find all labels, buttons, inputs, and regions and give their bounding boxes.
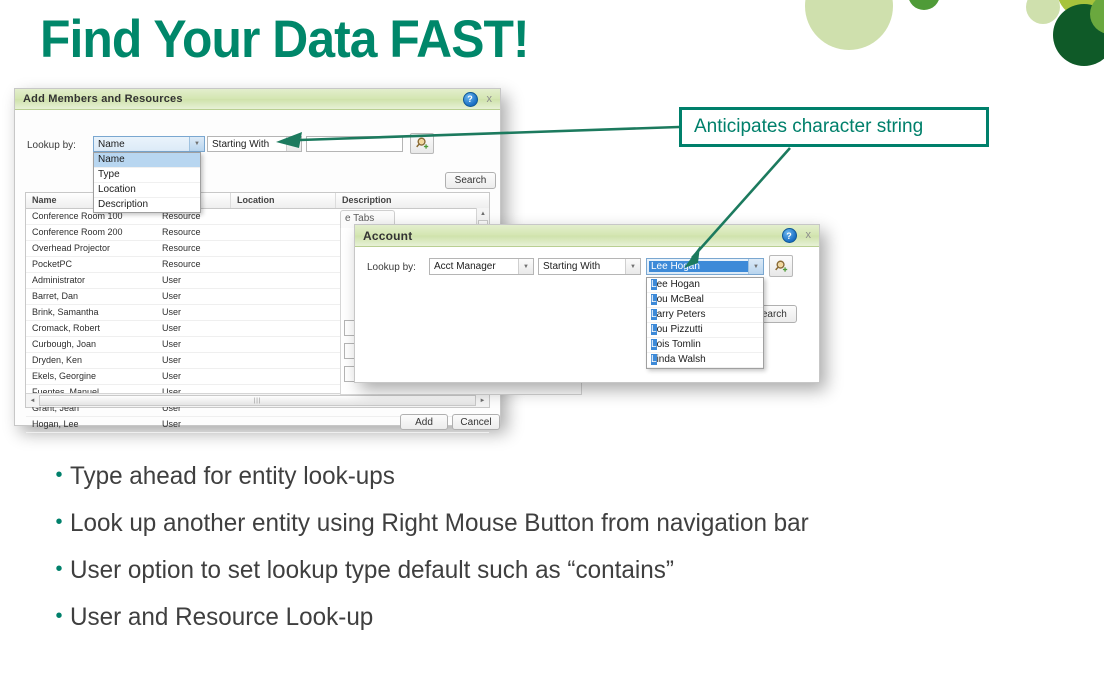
account-magnifier-add-icon-button[interactable] bbox=[769, 255, 793, 277]
table-cell: Brink, Samantha bbox=[26, 305, 156, 320]
table-cell bbox=[231, 273, 336, 288]
chevron-down-icon: ▼ bbox=[286, 137, 301, 151]
chevron-down-icon: ▼ bbox=[518, 259, 533, 274]
dropdown-option-description[interactable]: Description bbox=[94, 198, 200, 212]
slide-canvas: Find Your Data FAST! Add Members and Res… bbox=[0, 0, 1104, 685]
search-button[interactable]: Search bbox=[445, 172, 496, 189]
dropdown-option-name[interactable]: Name bbox=[94, 153, 200, 168]
table-cell bbox=[231, 353, 336, 368]
table-cell: User bbox=[156, 305, 231, 320]
operator-combo[interactable]: Starting With ▼ bbox=[207, 136, 302, 152]
table-cell bbox=[231, 417, 336, 432]
table-cell: User bbox=[156, 417, 231, 432]
decorative-circle-mid-green bbox=[908, 0, 940, 10]
bullet-dot-icon: • bbox=[48, 556, 70, 582]
add-members-titlebar: Add Members and Resources ? x bbox=[15, 89, 500, 110]
table-cell: Resource bbox=[156, 241, 231, 256]
decorative-circle-pale-green bbox=[1026, 0, 1060, 24]
suggestion-item[interactable]: Lois Tomlin bbox=[647, 338, 763, 353]
table-cell: User bbox=[156, 369, 231, 384]
grid-col-location[interactable]: Location bbox=[231, 193, 336, 208]
table-cell: Administrator bbox=[26, 273, 156, 288]
suggestion-item[interactable]: Linda Walsh bbox=[647, 353, 763, 368]
table-cell bbox=[231, 257, 336, 272]
table-cell bbox=[231, 209, 336, 224]
add-members-title: Add Members and Resources bbox=[23, 93, 463, 105]
bullet-dot-icon: • bbox=[48, 509, 70, 535]
help-question-icon[interactable]: ? bbox=[463, 92, 478, 107]
bullet-dot-icon: • bbox=[48, 462, 70, 488]
bullet-text: User and Resource Look-up bbox=[70, 603, 373, 631]
magnifier-add-icon bbox=[774, 259, 789, 274]
table-cell bbox=[231, 289, 336, 304]
list-item: •User option to set lookup type default … bbox=[48, 556, 1088, 584]
list-item: •Look up another entity using Right Mous… bbox=[48, 509, 1088, 537]
account-title: Account bbox=[363, 229, 782, 243]
scroll-right-arrow-icon[interactable]: ► bbox=[476, 398, 489, 404]
table-cell: User bbox=[156, 353, 231, 368]
table-cell: User bbox=[156, 321, 231, 336]
account-lookup-by-label: Lookup by: bbox=[367, 262, 416, 273]
account-operator-combo[interactable]: Starting With ▼ bbox=[538, 258, 641, 275]
table-cell bbox=[231, 241, 336, 256]
lookup-field-combo[interactable]: Name ▼ bbox=[93, 136, 205, 152]
suggestion-item[interactable]: Lou McBeal bbox=[647, 293, 763, 308]
bullet-list: •Type ahead for entity look-ups•Look up … bbox=[48, 462, 1088, 650]
dropdown-option-type[interactable]: Type bbox=[94, 168, 200, 183]
suggestion-item[interactable]: Larry Peters bbox=[647, 308, 763, 323]
callout-text: Anticipates character string bbox=[694, 116, 923, 138]
hscroll-track[interactable]: ||| bbox=[39, 395, 476, 406]
table-cell bbox=[231, 369, 336, 384]
table-cell: Resource bbox=[156, 225, 231, 240]
table-cell: Hogan, Lee bbox=[26, 417, 156, 432]
table-cell: Barret, Dan bbox=[26, 289, 156, 304]
table-cell: Ekels, Georgine bbox=[26, 369, 156, 384]
table-cell: Conference Room 200 bbox=[26, 225, 156, 240]
table-cell: Cromack, Robert bbox=[26, 321, 156, 336]
account-operator-value: Starting With bbox=[539, 261, 625, 272]
search-text-input[interactable] bbox=[306, 136, 403, 152]
list-item: •Type ahead for entity look-ups bbox=[48, 462, 1088, 490]
table-cell: Dryden, Ken bbox=[26, 353, 156, 368]
table-cell bbox=[231, 305, 336, 320]
lookup-field-dropdown[interactable]: Name Type Location Description bbox=[93, 152, 201, 213]
decorative-circle-light-green bbox=[805, 0, 893, 50]
bullet-text: User option to set lookup type default s… bbox=[70, 556, 674, 584]
add-button[interactable]: Add bbox=[400, 414, 448, 430]
suggestion-item[interactable]: Lou Pizzutti bbox=[647, 323, 763, 338]
operator-value: Starting With bbox=[208, 139, 286, 150]
close-x-icon[interactable]: x bbox=[485, 94, 495, 105]
account-titlebar: Account ? x bbox=[355, 225, 819, 247]
magnifier-add-icon bbox=[415, 136, 430, 151]
table-cell: User bbox=[156, 337, 231, 352]
chevron-down-icon: ▼ bbox=[625, 259, 640, 274]
table-cell bbox=[231, 337, 336, 352]
table-cell bbox=[231, 321, 336, 336]
bullet-text: Look up another entity using Right Mouse… bbox=[70, 509, 809, 537]
account-lookup-field-value: Acct Manager bbox=[430, 261, 518, 272]
grid-horizontal-scrollbar[interactable]: ◄ ||| ► bbox=[26, 393, 489, 407]
hscroll-thumb[interactable]: ||| bbox=[39, 395, 476, 406]
suggestion-item[interactable]: Lee Hogan bbox=[647, 278, 763, 293]
table-cell: Resource bbox=[156, 257, 231, 272]
scroll-left-arrow-icon[interactable]: ◄ bbox=[26, 398, 39, 404]
close-x-icon[interactable]: x bbox=[804, 230, 814, 241]
table-cell: PocketPC bbox=[26, 257, 156, 272]
account-lookup-field-combo[interactable]: Acct Manager ▼ bbox=[429, 258, 534, 275]
account-typeahead-value: Lee Hogan bbox=[649, 261, 748, 272]
slide-title: Find Your Data FAST! bbox=[40, 12, 529, 68]
table-cell: User bbox=[156, 289, 231, 304]
bullet-dot-icon: • bbox=[48, 603, 70, 629]
magnifier-add-icon-button[interactable] bbox=[410, 133, 434, 154]
chevron-down-icon: ▼ bbox=[189, 137, 204, 151]
table-cell bbox=[231, 225, 336, 240]
callout-box: Anticipates character string bbox=[679, 107, 989, 147]
table-cell: Curbough, Joan bbox=[26, 337, 156, 352]
list-item: •User and Resource Look-up bbox=[48, 603, 1088, 631]
grid-col-description[interactable]: Description bbox=[336, 193, 478, 208]
table-cell: Overhead Projector bbox=[26, 241, 156, 256]
help-question-icon[interactable]: ? bbox=[782, 228, 797, 243]
typeahead-suggestions-dropdown[interactable]: Lee HoganLou McBealLarry PetersLou Pizzu… bbox=[646, 277, 764, 369]
dropdown-option-location[interactable]: Location bbox=[94, 183, 200, 198]
lookup-by-label: Lookup by: bbox=[27, 140, 76, 151]
cancel-button[interactable]: Cancel bbox=[452, 414, 500, 430]
table-cell: User bbox=[156, 273, 231, 288]
bullet-text: Type ahead for entity look-ups bbox=[70, 462, 395, 490]
account-typeahead-combo[interactable]: Lee Hogan ▼ bbox=[646, 258, 764, 275]
chevron-down-icon: ▼ bbox=[748, 259, 763, 274]
lookup-field-value: Name bbox=[94, 139, 189, 150]
